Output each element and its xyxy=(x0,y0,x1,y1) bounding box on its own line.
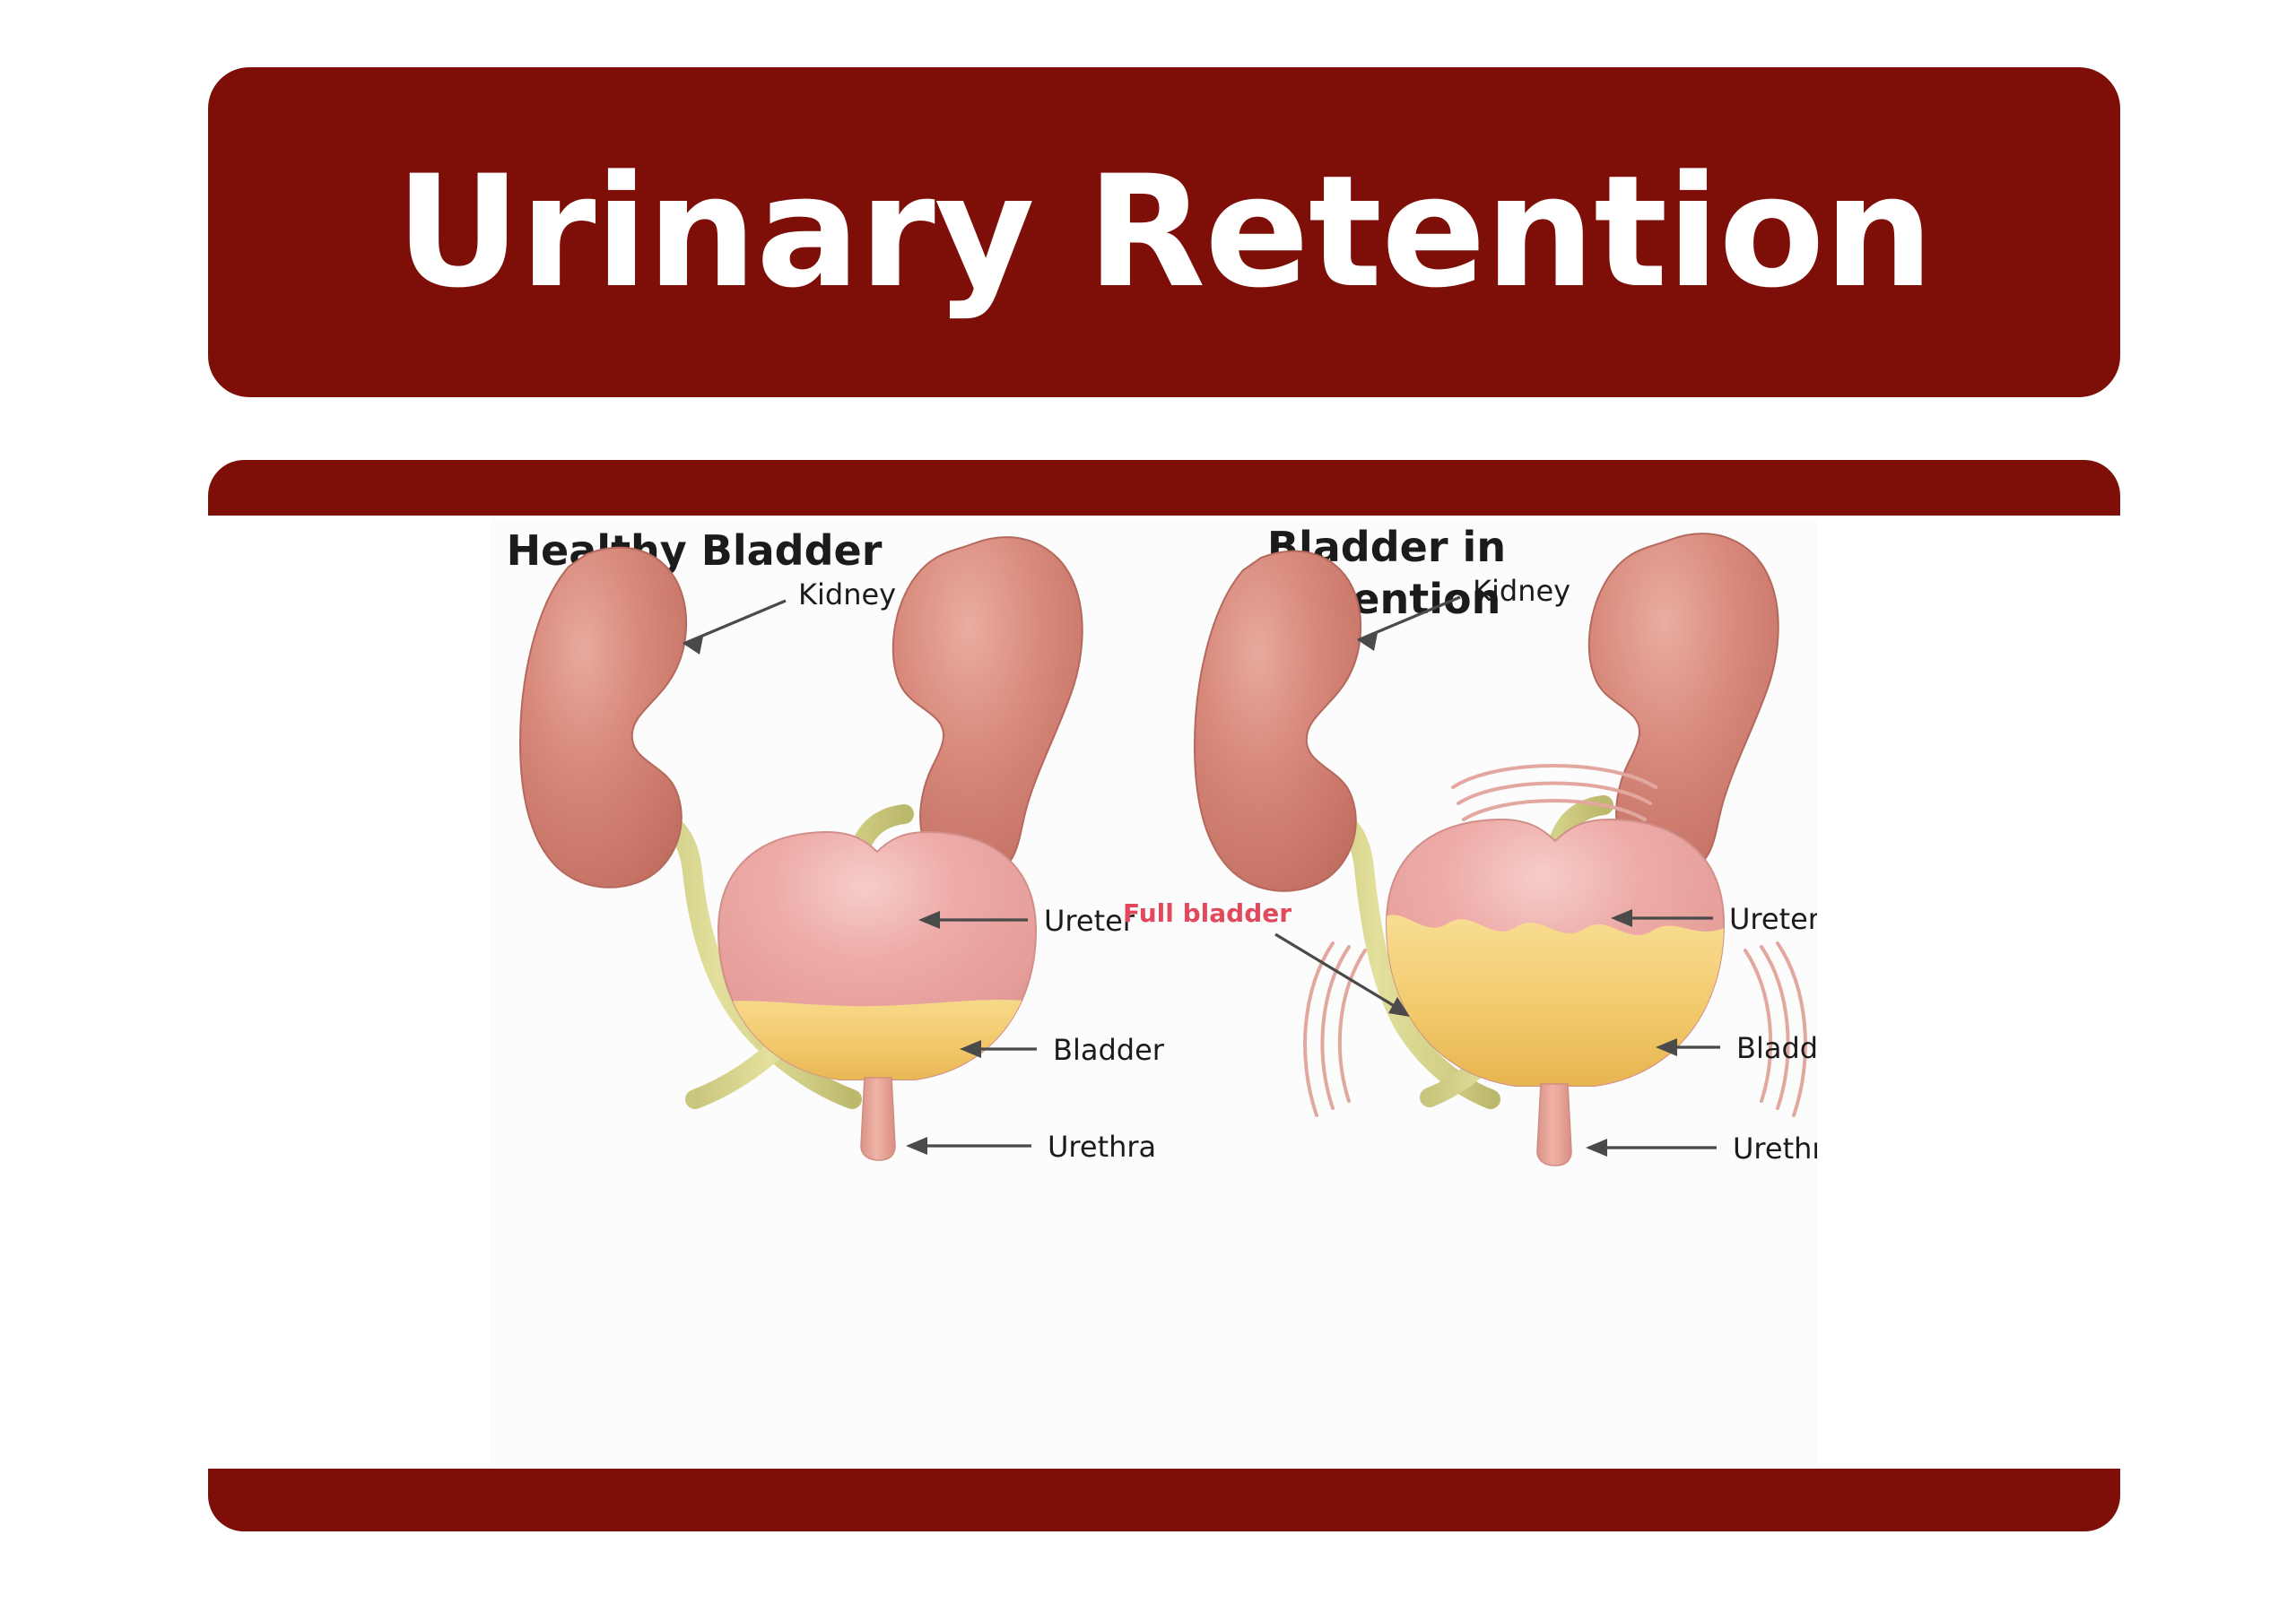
bottom-accent-bar xyxy=(208,1469,2120,1531)
urethra-retention xyxy=(1537,1084,1571,1166)
label-ureter-healthy: Ureter xyxy=(1044,904,1135,938)
motion-lines-top-retention xyxy=(1453,766,1656,820)
kidney-left-retention xyxy=(1195,551,1361,891)
arrowhead-urethra-healthy xyxy=(906,1137,927,1155)
label-bladder-healthy: Bladder xyxy=(1053,1033,1165,1067)
label-urethra-healthy: Urethra xyxy=(1048,1130,1156,1164)
bladder-urine-retention xyxy=(1379,915,1733,1110)
leader-kidney-healthy xyxy=(683,601,786,644)
label-ureter-retention: Ureter xyxy=(1729,902,1817,936)
diagram-heading-healthy: Healthy Bladder xyxy=(507,526,883,575)
bladder-healthy xyxy=(714,832,1040,1160)
urinary-system-diagram: Healthy Bladder xyxy=(490,518,1817,1467)
label-bladder-retention: Bladder xyxy=(1736,1031,1817,1065)
kidney-left-healthy xyxy=(520,548,686,888)
label-kidney-healthy: Kidney xyxy=(798,577,896,611)
arrowhead-urethra-retention xyxy=(1586,1139,1607,1157)
top-accent-bar xyxy=(208,460,2120,516)
motion-lines-right-retention xyxy=(1745,943,1805,1115)
bladder-retention xyxy=(1379,820,1733,1166)
page-title: Urinary Retention xyxy=(396,155,1933,309)
title-banner: Urinary Retention xyxy=(208,67,2120,397)
kidney-right-healthy xyxy=(893,537,1083,880)
diagram-healthy-bladder: Healthy Bladder xyxy=(507,526,1165,1164)
label-urethra-retention: Urethra xyxy=(1733,1132,1817,1166)
label-kidney-retention: Kidney xyxy=(1473,574,1570,608)
urethra-healthy xyxy=(861,1078,895,1160)
diagram-bladder-in-retention: Bladder in Retention xyxy=(1123,523,1817,1166)
anatomy-illustration-panel: Healthy Bladder xyxy=(490,518,1817,1467)
label-full-bladder: Full bladder xyxy=(1123,898,1291,928)
